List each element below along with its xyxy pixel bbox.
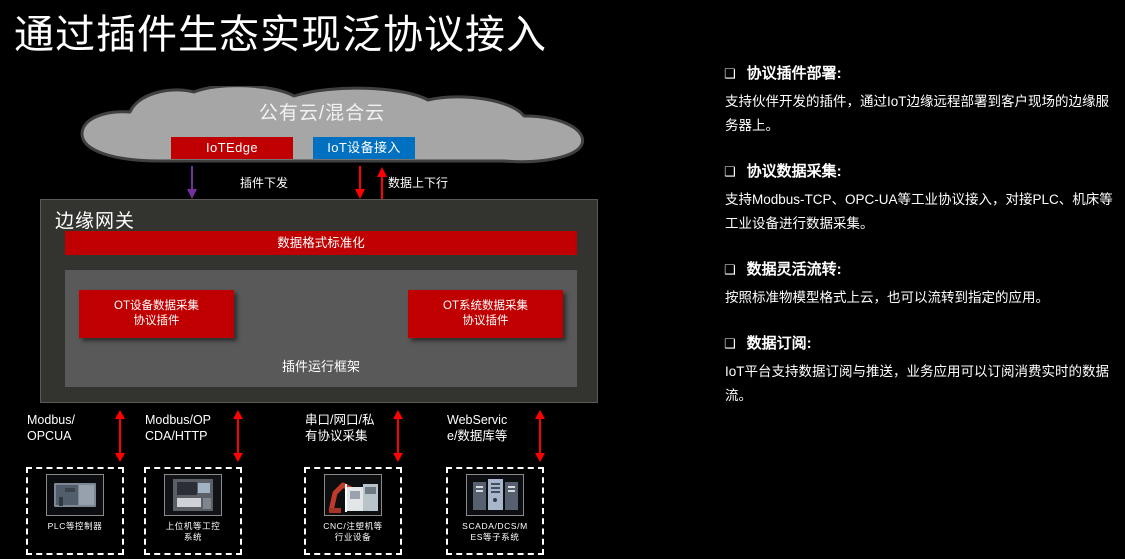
device-column-cnc: 串口/网口/私 有协议采集 bbox=[303, 410, 445, 559]
protocol-label-hmi: Modbus/OP CDA/HTTP bbox=[145, 412, 227, 444]
cloud-group: 公有云/混合云 IoTEdge IoT设备接入 bbox=[42, 86, 602, 171]
plugin-ot-device-line1: OT设备数据采集 bbox=[114, 300, 199, 312]
bullet-square-icon: ❑ bbox=[724, 263, 736, 276]
protocol-label-scada: WebServic e/数据库等 bbox=[447, 412, 529, 444]
device-caption-scada-line2: ES等子系统 bbox=[471, 532, 520, 542]
protocol-plc-line1: Modbus/ bbox=[27, 413, 75, 427]
plugin-runtime-framework-label: 插件运行框架 bbox=[65, 356, 577, 375]
feature-heading-data-subscribe-text: 数据订阅: bbox=[747, 332, 812, 353]
device-caption-cnc: CNC/注塑机等 行业设备 bbox=[306, 521, 400, 543]
flow-label-plugin-delivery: 插件下发 bbox=[240, 174, 288, 191]
flow-arrows-svg bbox=[40, 166, 600, 200]
plugin-ot-system-line2: 协议插件 bbox=[462, 315, 508, 327]
plugin-runtime-framework: OT设备数据采集 协议插件 OT系统数据采集 协议插件 插件运行框架 bbox=[65, 270, 577, 387]
protocol-label-cnc: 串口/网口/私 有协议采集 bbox=[305, 412, 387, 444]
device-column-scada: WebServic e/数据库等 bbox=[445, 410, 587, 559]
plugin-box-ot-device[interactable]: OT设备数据采集 协议插件 bbox=[79, 290, 234, 338]
protocol-hmi-line2: CDA/HTTP bbox=[145, 429, 208, 443]
edge-gateway-panel: 边缘网关 数据格式标准化 OT设备数据采集 协议插件 OT系统数据采集 协议插件… bbox=[40, 199, 598, 403]
feature-heading-data-routing: ❑ 数据灵活流转: bbox=[724, 258, 1114, 279]
hmi-workstation-photo bbox=[164, 474, 222, 516]
badge-iotedge[interactable]: IoTEdge bbox=[171, 137, 293, 159]
edge-gateway-title: 边缘网关 bbox=[55, 206, 135, 233]
feature-heading-data-routing-text: 数据灵活流转: bbox=[747, 258, 842, 279]
slide-canvas: 通过插件生态实现泛协议接入 公有云/混合云 IoTEdge IoT设备接入 bbox=[0, 0, 1125, 559]
bullet-square-icon: ❑ bbox=[724, 67, 736, 80]
plugin-ot-device-line2: 协议插件 bbox=[133, 315, 179, 327]
arrow-bidirectional-hmi-icon bbox=[231, 410, 245, 462]
device-box-hmi[interactable]: 上位机等工控 系统 bbox=[144, 467, 242, 555]
arrow-bidirectional-cnc-icon bbox=[391, 410, 405, 462]
feature-block-protocol-collect: ❑ 协议数据采集: 支持Modbus-TCP、OPC-UA等工业协议接入，对接P… bbox=[724, 160, 1114, 236]
device-caption-scada: SCADA/DCS/M ES等子系统 bbox=[448, 521, 542, 543]
server-rack-photo bbox=[466, 474, 524, 516]
badge-iot-device-access[interactable]: IoT设备接入 bbox=[313, 137, 415, 159]
bullet-square-icon: ❑ bbox=[724, 165, 736, 178]
feature-body-plugin-deploy: 支持伙伴开发的插件，通过IoT边缘远程部署到客户现场的边缘服务器上。 bbox=[725, 90, 1114, 138]
arrow-bidirectional-scada-icon bbox=[533, 410, 547, 462]
arrow-down-red-icon bbox=[355, 166, 365, 199]
plugin-box-ot-system[interactable]: OT系统数据采集 协议插件 bbox=[408, 290, 563, 338]
device-caption-hmi: 上位机等工控 系统 bbox=[146, 521, 240, 543]
robot-arm-machine-photo bbox=[324, 474, 382, 516]
device-box-scada[interactable]: SCADA/DCS/M ES等子系统 bbox=[446, 467, 544, 555]
arrow-bidirectional-plc-icon bbox=[113, 410, 127, 462]
protocol-scada-line2: e/数据库等 bbox=[447, 429, 507, 443]
device-caption-plc: PLC等控制器 bbox=[28, 521, 122, 532]
device-caption-hmi-line1: 上位机等工控 bbox=[166, 521, 221, 531]
device-caption-cnc-line2: 行业设备 bbox=[335, 532, 371, 542]
feature-heading-protocol-collect-text: 协议数据采集: bbox=[747, 160, 842, 181]
feature-panel: ❑ 协议插件部署: 支持伙伴开发的插件，通过IoT边缘远程部署到客户现场的边缘服… bbox=[724, 62, 1114, 430]
arrow-down-purple-icon bbox=[187, 166, 197, 199]
feature-body-data-subscribe: IoT平台支持数据订阅与推送，业务应用可以订阅消费实时的数据流。 bbox=[725, 360, 1114, 408]
protocol-plc-line2: OPCUA bbox=[27, 429, 71, 443]
feature-heading-data-subscribe: ❑ 数据订阅: bbox=[724, 332, 1114, 353]
device-caption-plc-line1: PLC等控制器 bbox=[48, 521, 103, 531]
feature-block-data-routing: ❑ 数据灵活流转: 按照标准物模型格式上云，也可以流转到指定的应用。 bbox=[724, 258, 1114, 310]
protocol-scada-line1: WebServic bbox=[447, 413, 507, 427]
page-title: 通过插件生态实现泛协议接入 bbox=[14, 10, 547, 60]
feature-heading-plugin-deploy: ❑ 协议插件部署: bbox=[724, 62, 1114, 83]
device-caption-scada-line1: SCADA/DCS/M bbox=[462, 521, 528, 531]
data-format-standardization-bar[interactable]: 数据格式标准化 bbox=[65, 231, 577, 255]
device-column-hmi: Modbus/OP CDA/HTTP bbox=[143, 410, 285, 559]
feature-block-plugin-deploy: ❑ 协议插件部署: 支持伙伴开发的插件，通过IoT边缘远程部署到客户现场的边缘服… bbox=[724, 62, 1114, 138]
protocol-cnc-line1: 串口/网口/私 bbox=[305, 413, 374, 427]
device-row: Modbus/ OPCUA bbox=[25, 410, 605, 559]
device-box-plc[interactable]: PLC等控制器 bbox=[26, 467, 124, 555]
plc-controller-photo bbox=[46, 474, 104, 516]
feature-heading-protocol-collect: ❑ 协议数据采集: bbox=[724, 160, 1114, 181]
bullet-square-icon: ❑ bbox=[724, 337, 736, 350]
feature-body-data-routing: 按照标准物模型格式上云，也可以流转到指定的应用。 bbox=[725, 286, 1114, 310]
feature-body-protocol-collect: 支持Modbus-TCP、OPC-UA等工业协议接入，对接PLC、机床等工业设备… bbox=[725, 188, 1114, 236]
feature-heading-plugin-deploy-text: 协议插件部署: bbox=[747, 62, 842, 83]
flow-arrows-group: 插件下发 数据上下行 bbox=[40, 166, 600, 200]
protocol-label-plc: Modbus/ OPCUA bbox=[27, 412, 109, 444]
device-caption-cnc-line1: CNC/注塑机等 bbox=[323, 521, 383, 531]
protocol-hmi-line1: Modbus/OP bbox=[145, 413, 211, 427]
feature-block-data-subscribe: ❑ 数据订阅: IoT平台支持数据订阅与推送，业务应用可以订阅消费实时的数据流。 bbox=[724, 332, 1114, 408]
plugin-ot-system-line1: OT系统数据采集 bbox=[443, 300, 528, 312]
device-box-cnc[interactable]: CNC/注塑机等 行业设备 bbox=[304, 467, 402, 555]
flow-label-data-updown: 数据上下行 bbox=[388, 174, 448, 191]
device-caption-hmi-line2: 系统 bbox=[184, 532, 202, 542]
arrow-up-red-icon bbox=[377, 167, 387, 200]
protocol-cnc-line2: 有协议采集 bbox=[305, 429, 368, 443]
